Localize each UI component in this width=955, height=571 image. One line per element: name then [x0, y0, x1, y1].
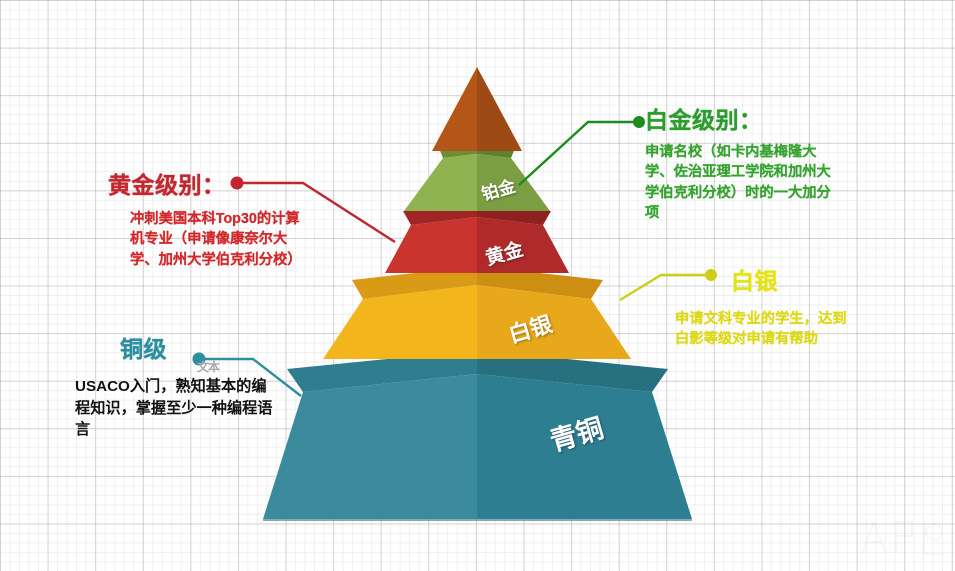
pyramid-tier-silver-left	[323, 285, 477, 359]
callout-gold: 黄金级别： 冲刺美国本科Top30的计算机专业（申请像康奈尔大学、加州大学伯克利…	[108, 166, 313, 270]
callout-platinum-body: 申请名校（如卡内基梅隆大学、佐治亚理工学院和加州大学伯克利分校）时的一大加分项	[645, 142, 845, 223]
pyramid-tier-bronze-left	[263, 374, 477, 519]
connector-line-platinum	[519, 122, 637, 185]
callout-platinum-title: 白金级别：	[645, 101, 845, 135]
callout-silver-title: 白银	[731, 262, 860, 296]
callout-gold-body: 冲刺美国本科Top30的计算机专业（申请像康奈尔大学、加州大学伯克利分校）	[130, 209, 313, 270]
pyramid-tier-silver-right	[477, 285, 631, 359]
pyramid-tier-bronze-shadow	[263, 519, 692, 521]
callout-bronze-title: 铜级	[120, 330, 280, 364]
pyramid-tier-gold-left	[385, 217, 477, 273]
pyramid-tier-platinum-left	[404, 154, 477, 211]
callout-bronze: 铜级 USACO入门，熟知基本的编程知识，掌握至少一种编程语言	[75, 330, 280, 441]
watermark	[856, 512, 952, 562]
connector-dot-platinum	[633, 116, 645, 128]
callout-silver-body: 申请文科专业的学生，达到白影等级对申请有帮助	[675, 309, 860, 350]
callout-gold-title: 黄金级别：	[108, 166, 313, 200]
callout-silver: 白银 申请文科专业的学生，达到白影等级对申请有帮助	[675, 262, 860, 350]
pyramid-apex-left	[432, 67, 477, 151]
placeholder-text-artifact: 文本	[197, 361, 219, 373]
diagram-canvas: 铂金 黄金 白银 青铜 白金级别： 申请名校（如卡内基梅隆大学、佐治亚理工学院和…	[0, 0, 955, 571]
pyramid-apex-right	[477, 67, 522, 151]
callout-platinum: 白金级别： 申请名校（如卡内基梅隆大学、佐治亚理工学院和加州大学伯克利分校）时的…	[645, 101, 845, 223]
callout-bronze-body: USACO入门，熟知基本的编程知识，掌握至少一种编程语言	[75, 376, 280, 441]
